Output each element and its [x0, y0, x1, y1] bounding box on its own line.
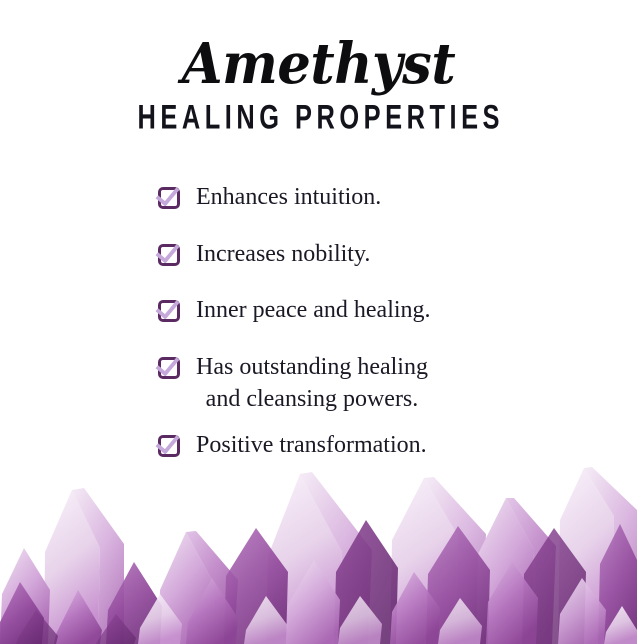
list-item-label: Inner peace and healing.: [196, 295, 431, 327]
list-item[interactable]: Inner peace and healing.: [0, 295, 637, 327]
checkbox-checked-icon[interactable]: [158, 187, 180, 209]
amethyst-healing-properties-poster: Amethyst HEALING PROPERTIES Enhances int…: [0, 0, 637, 644]
amethyst-crystal-cluster-image: [0, 444, 637, 644]
list-item-label: Positive transformation.: [196, 430, 427, 462]
healing-properties-list: Enhances intuition. Increases nobility. …: [0, 182, 637, 462]
page-title: Amethyst: [19, 0, 618, 94]
list-item-label: Has outstanding healing and cleansing po…: [196, 352, 428, 415]
checkbox-checked-icon[interactable]: [158, 357, 180, 379]
list-item[interactable]: Positive transformation.: [0, 430, 637, 462]
list-item-label: Enhances intuition.: [196, 182, 381, 214]
list-item[interactable]: Enhances intuition.: [0, 182, 637, 214]
crystal-cluster-illustration: [0, 444, 637, 644]
checkbox-checked-icon[interactable]: [158, 435, 180, 457]
list-item[interactable]: Increases nobility.: [0, 239, 637, 271]
poster-header: Amethyst HEALING PROPERTIES: [0, 0, 637, 135]
checkbox-checked-icon[interactable]: [158, 300, 180, 322]
list-item-label: Increases nobility.: [196, 239, 370, 271]
page-subtitle: HEALING PROPERTIES: [57, 92, 579, 137]
list-item[interactable]: Has outstanding healing and cleansing po…: [0, 352, 637, 415]
checkbox-checked-icon[interactable]: [158, 244, 180, 266]
